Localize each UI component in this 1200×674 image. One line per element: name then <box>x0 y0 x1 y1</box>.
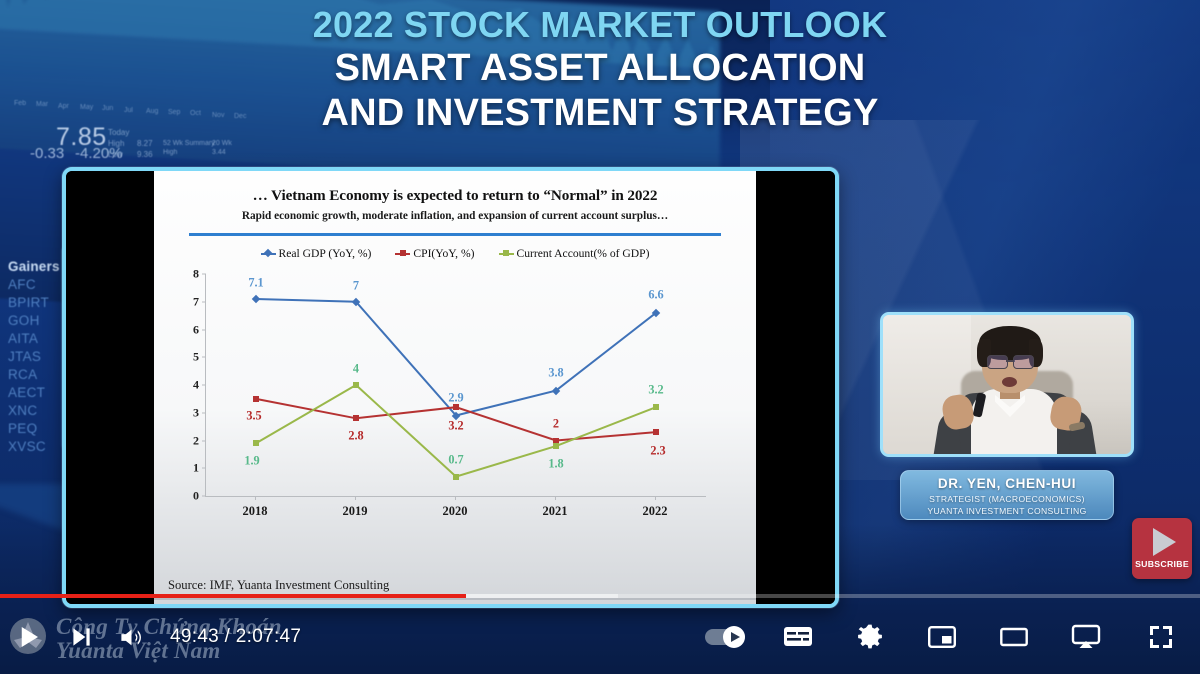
speaker-photo <box>883 315 1131 454</box>
data-label: 7 <box>353 278 359 293</box>
data-point-square <box>353 415 359 421</box>
data-label: 2.9 <box>448 390 463 405</box>
bg-quote-value-high: 8.27 <box>137 139 153 148</box>
slide-page: … Vietnam Economy is expected to return … <box>154 171 756 604</box>
speaker-video-thumbnail: DR. YEN, CHEN-HUI STRATEGIST (MACROECONO… <box>876 312 1138 522</box>
slide-title: … Vietnam Economy is expected to return … <box>154 187 756 205</box>
ticker-symbol: AFC <box>4 276 64 293</box>
x-axis-tick-label: 2022 <box>643 504 668 519</box>
y-axis-tick-label: 2 <box>193 433 199 448</box>
slide-source: Source: IMF, Yuanta Investment Consultin… <box>168 578 389 593</box>
data-point-square <box>453 404 459 410</box>
cast-button[interactable] <box>1050 600 1122 674</box>
data-label: 3.2 <box>448 419 463 434</box>
subscribe-label: SUBSCRIBE <box>1135 559 1189 569</box>
x-axis-tick-mark <box>555 496 556 500</box>
slide-subtitle: Rapid economic growth, moderate inflatio… <box>154 210 756 222</box>
data-point-square <box>653 404 659 410</box>
y-axis-tick-label: 3 <box>193 405 199 420</box>
legend-item: CPI(YoY, %) <box>395 247 474 260</box>
subtitles-button[interactable] <box>762 600 834 674</box>
speaker-name: DR. YEN, CHEN-HUI <box>901 476 1113 491</box>
line-chart: 0123456787.172.93.86.63.52.83.222.31.940… <box>154 264 756 536</box>
y-axis-tick-label: 8 <box>193 267 199 282</box>
speaker-role: STRATEGIST (MACROECONOMICS) <box>901 494 1113 504</box>
ticker-symbol: XNC <box>4 402 64 419</box>
ticker-symbol: PEQ <box>4 420 64 437</box>
ticker-symbol: RCA <box>4 366 64 383</box>
legend-square-icon <box>395 253 410 255</box>
data-label: 2 <box>553 416 559 431</box>
ticker-symbol: JTAS <box>4 348 64 365</box>
data-point-square <box>253 440 259 446</box>
data-label: 2.8 <box>348 429 363 444</box>
theater-button[interactable] <box>978 600 1050 674</box>
ticker-list: Gainers AFCBPIRTGOHAITAJTASRCAAECTXNCPEQ… <box>4 258 64 455</box>
timecode-display: 49:43 / 2:07:47 <box>170 626 301 648</box>
headline-line-1: 2022 STOCK MARKET OUTLOOK <box>0 4 1200 46</box>
autoplay-toggle[interactable] <box>688 600 762 674</box>
page-title: 2022 STOCK MARKET OUTLOOK SMART ASSET AL… <box>0 4 1200 136</box>
shared-slide: … Vietnam Economy is expected to return … <box>62 167 839 608</box>
next-button[interactable] <box>56 600 106 674</box>
volume-button[interactable] <box>106 600 156 674</box>
slide-letterbox: … Vietnam Economy is expected to return … <box>66 171 835 604</box>
data-label: 6.6 <box>648 287 663 302</box>
x-axis-tick-mark <box>655 496 656 500</box>
progress-played <box>0 594 466 598</box>
x-axis-tick-label: 2020 <box>443 504 468 519</box>
data-point-square <box>353 382 359 388</box>
miniplayer-button[interactable] <box>906 600 978 674</box>
legend-label: Real GDP (YoY, %) <box>279 247 372 260</box>
x-axis-tick-label: 2019 <box>343 504 368 519</box>
data-label: 0.7 <box>448 452 463 467</box>
ticker-list-header: Gainers <box>4 258 64 275</box>
data-label: 3.8 <box>548 365 563 380</box>
bg-quote-change: -0.33 <box>30 145 64 162</box>
y-axis-tick-label: 1 <box>193 461 199 476</box>
data-label: 4 <box>353 362 359 377</box>
data-label: 3.2 <box>648 383 663 398</box>
bg-quote-label-low: Low <box>108 150 123 159</box>
play-button[interactable] <box>0 600 56 674</box>
data-point-square <box>653 429 659 435</box>
bg-quote-value-range: 3.44 <box>212 149 226 156</box>
data-point-square <box>553 443 559 449</box>
chart-legend: Real GDP (YoY, %)CPI(YoY, %)Current Acco… <box>154 247 756 260</box>
legend-label: CPI(YoY, %) <box>413 247 474 260</box>
headline-line-2: SMART ASSET ALLOCATION <box>0 46 1200 91</box>
bg-quote-label-range: 20 Wk <box>212 140 232 147</box>
data-point-square <box>453 474 459 480</box>
y-axis-tick-label: 7 <box>193 294 199 309</box>
data-label: 1.9 <box>244 454 259 469</box>
data-point-square <box>253 396 259 402</box>
subscribe-watermark-button[interactable]: SUBSCRIBE <box>1132 518 1192 579</box>
chart-plot-area: 0123456787.172.93.86.63.52.83.222.31.940… <box>206 274 706 496</box>
speaker-video-frame <box>880 312 1134 457</box>
bg-quote-value-low: 9.36 <box>137 150 153 159</box>
data-label: 7.1 <box>248 275 263 290</box>
data-label: 1.8 <box>548 457 563 472</box>
legend-diamond-icon <box>261 253 276 255</box>
x-axis-tick-mark <box>255 496 256 500</box>
x-axis-tick-mark <box>455 496 456 500</box>
bg-quote-label-high2: High <box>163 149 177 156</box>
player-controls: 49:43 / 2:07:47 <box>0 600 1200 674</box>
legend-item: Current Account(% of GDP) <box>499 247 650 260</box>
y-axis-tick-label: 4 <box>193 378 199 393</box>
ticker-symbol: AECT <box>4 384 64 401</box>
ticker-symbol: GOH <box>4 312 64 329</box>
x-axis-tick-label: 2021 <box>543 504 568 519</box>
bg-quote-label-high: High <box>108 139 124 148</box>
data-label: 2.3 <box>650 444 665 459</box>
ticker-symbol: AITA <box>4 330 64 347</box>
y-axis-tick-label: 6 <box>193 322 199 337</box>
bg-quote-label-52wk: 52 Wk Summary <box>163 140 215 147</box>
speaker-name-plate: DR. YEN, CHEN-HUI STRATEGIST (MACROECONO… <box>900 470 1114 520</box>
x-axis-tick-label: 2018 <box>243 504 268 519</box>
data-label: 3.5 <box>246 408 261 423</box>
x-axis-tick-mark <box>355 496 356 500</box>
speaker-company: YUANTA INVESTMENT CONSULTING <box>901 506 1113 516</box>
settings-button[interactable] <box>834 600 906 674</box>
ticker-symbol: XVSC <box>4 438 64 455</box>
legend-square-icon <box>499 253 514 255</box>
legend-label: Current Account(% of GDP) <box>517 247 650 260</box>
y-axis-tick-label: 5 <box>193 350 199 365</box>
play-triangle-icon <box>1153 528 1176 556</box>
fullscreen-button[interactable] <box>1122 600 1200 674</box>
legend-item: Real GDP (YoY, %) <box>261 247 372 260</box>
headline-line-3: AND INVESTMENT STRATEGY <box>0 91 1200 136</box>
y-axis-tick-label: 0 <box>193 489 199 504</box>
progress-bar[interactable] <box>0 594 1200 598</box>
ticker-symbol: BPIRT <box>4 294 64 311</box>
slide-divider <box>189 233 721 236</box>
